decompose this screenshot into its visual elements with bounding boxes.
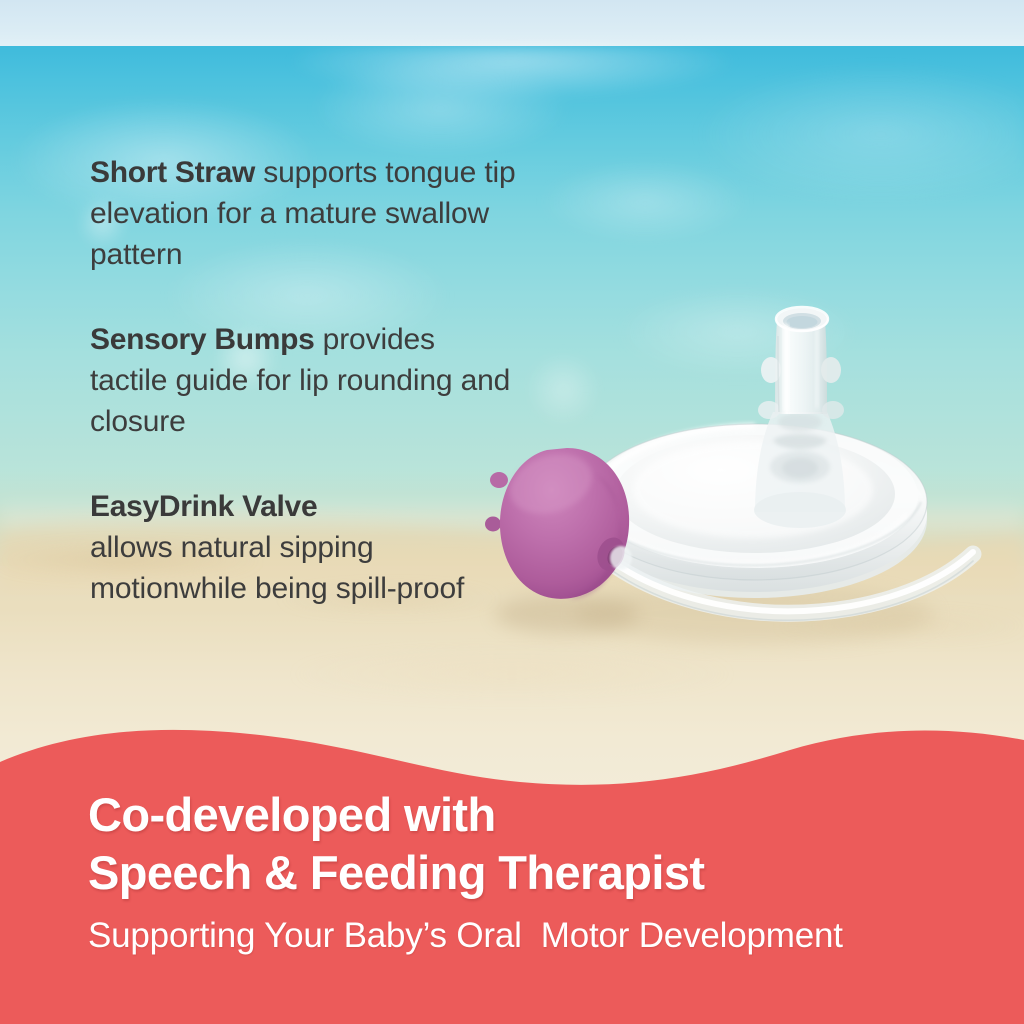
- feature-text: Short Straw supports tongue tip elevatio…: [90, 152, 520, 275]
- feature-short-straw: Short Straw supports tongue tip elevatio…: [90, 152, 520, 275]
- bottom-banner: Co-developed with Speech & Feeding Thera…: [0, 700, 1024, 1024]
- product-image-sippy-lid: [455, 262, 995, 682]
- banner-text-group: Co-developed with Speech & Feeding Thera…: [88, 786, 988, 957]
- feature-body: allows natural sipping motionwhile being…: [90, 531, 464, 605]
- banner-headline-line-2: Speech & Feeding Therapist: [88, 846, 704, 899]
- feature-keyword: Short Straw: [90, 156, 255, 189]
- feature-sensory-bumps: Sensory Bumps provides tactile guide for…: [90, 319, 520, 442]
- feature-easydrink-valve: EasyDrink Valveallows natural sipping mo…: [90, 486, 520, 609]
- feature-list: Short Straw supports tongue tip elevatio…: [90, 152, 520, 609]
- sensory-bump-right: [821, 357, 841, 383]
- banner-headline-line-1: Co-developed with: [88, 788, 496, 841]
- feature-keyword: Sensory Bumps: [90, 323, 315, 356]
- feature-text: Sensory Bumps provides tactile guide for…: [90, 319, 520, 442]
- feature-text: EasyDrink Valveallows natural sipping mo…: [90, 486, 520, 609]
- straw-spout: [754, 307, 846, 528]
- banner-headline: Co-developed with Speech & Feeding Thera…: [88, 786, 988, 902]
- banner-subtitle: Supporting Your Baby’s Oral Motor Develo…: [88, 915, 988, 957]
- feature-keyword: EasyDrink Valve: [90, 486, 520, 527]
- promo-graphic-canvas: Short Straw supports tongue tip elevatio…: [0, 0, 1024, 1024]
